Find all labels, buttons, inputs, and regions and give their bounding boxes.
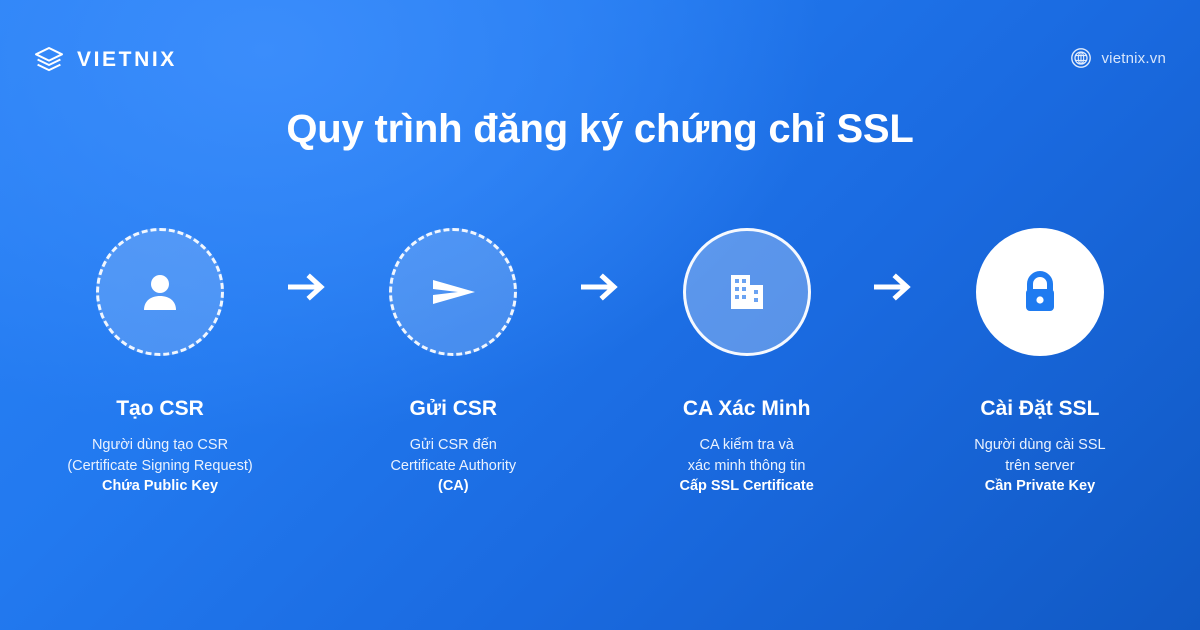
- site-url-text: vietnix.vn: [1101, 50, 1166, 67]
- step-4-title: Cài Đặt SSL: [980, 397, 1099, 421]
- step-4-line-2: trên server: [974, 456, 1105, 477]
- step-2-line-3: (CA): [390, 476, 516, 497]
- infographic-canvas: VIETNIX vietnix.vn Quy trình đăng ký chứ…: [0, 0, 1200, 630]
- arrow-right-icon-1: [279, 272, 335, 302]
- step-2-circle: [389, 228, 517, 356]
- step-4-line-1: Người dùng cài SSL: [974, 435, 1105, 456]
- step-1-description: Người dùng tạo CSR (Certificate Signing …: [67, 435, 252, 497]
- flow-step-1: Tạo CSR Người dùng tạo CSR (Certificate …: [60, 228, 260, 497]
- flow-step-3: CA Xác Minh CA kiểm tra và xác minh thôn…: [647, 228, 847, 497]
- lock-icon: [1014, 266, 1066, 318]
- step-1-line-2: (Certificate Signing Request): [67, 456, 252, 477]
- step-2-title: Gửi CSR: [410, 397, 498, 421]
- step-3-line-1: CA kiểm tra và: [679, 435, 813, 456]
- flow-step-4: Cài Đặt SSL Người dùng cài SSL trên serv…: [940, 228, 1140, 497]
- flow-step-2: Gửi CSR Gửi CSR đến Certificate Authorit…: [353, 228, 553, 497]
- site-url-badge: vietnix.vn: [1070, 47, 1166, 69]
- step-3-circle: [683, 228, 811, 356]
- step-3-line-2: xác minh thông tin: [679, 456, 813, 477]
- ssl-process-flow: Tạo CSR Người dùng tạo CSR (Certificate …: [60, 228, 1140, 497]
- step-1-line-1: Người dùng tạo CSR: [67, 435, 252, 456]
- globe-icon: [1070, 47, 1092, 69]
- building-icon: [720, 265, 774, 319]
- step-2-description: Gửi CSR đến Certificate Authority (CA): [390, 435, 516, 497]
- brand-name: VIETNIX: [77, 48, 177, 72]
- step-4-circle: [976, 228, 1104, 356]
- page-title: Quy trình đăng ký chứng chỉ SSL: [0, 107, 1200, 152]
- brand-logo: VIETNIX: [32, 43, 177, 77]
- step-3-description: CA kiểm tra và xác minh thông tin Cấp SS…: [679, 435, 813, 497]
- user-icon: [133, 265, 187, 319]
- step-4-line-3: Cần Private Key: [974, 476, 1105, 497]
- step-1-line-3: Chứa Public Key: [67, 476, 252, 497]
- arrow-right-icon-2: [572, 272, 628, 302]
- step-3-line-3: Cấp SSL Certificate: [679, 476, 813, 497]
- arrow-right-icon-3: [865, 272, 921, 302]
- step-2-line-2: Certificate Authority: [390, 456, 516, 477]
- layers-stack-icon: [32, 43, 66, 77]
- step-1-circle: [96, 228, 224, 356]
- step-1-title: Tạo CSR: [116, 397, 204, 421]
- step-2-line-1: Gửi CSR đến: [390, 435, 516, 456]
- step-3-title: CA Xác Minh: [683, 397, 811, 421]
- paper-plane-icon: [425, 264, 481, 320]
- step-4-description: Người dùng cài SSL trên server Cần Priva…: [974, 435, 1105, 497]
